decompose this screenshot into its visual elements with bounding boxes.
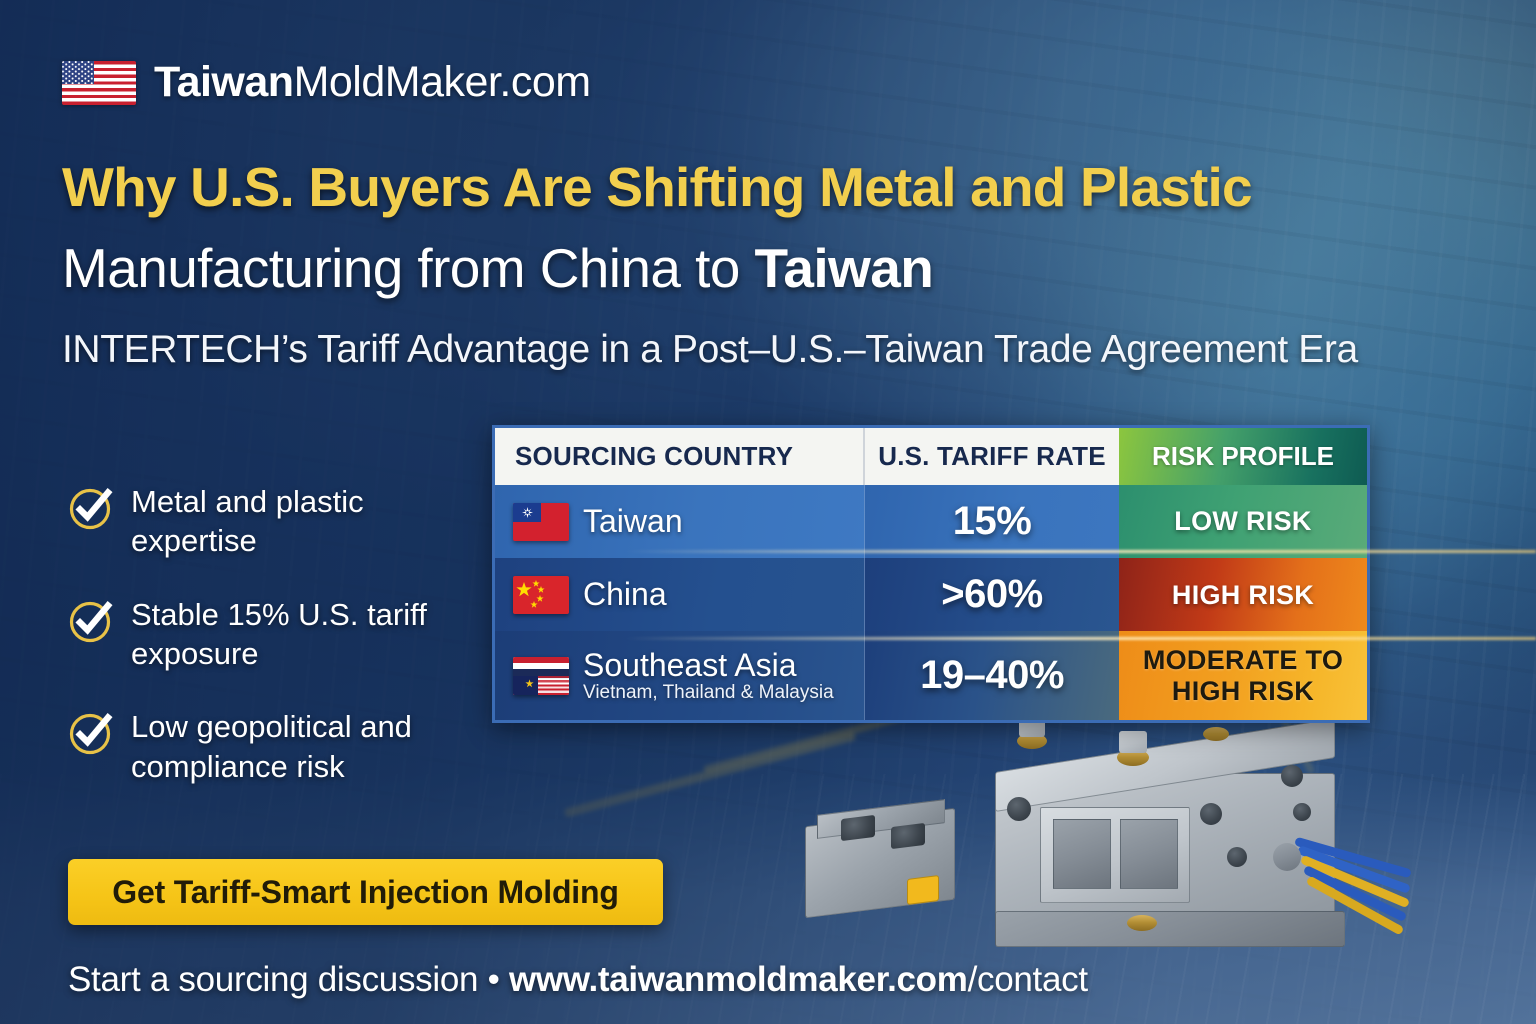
footer-url-domain[interactable]: www.taiwanmoldmaker.com bbox=[509, 960, 968, 999]
status-badge-line-1: MODERATE TO bbox=[1143, 645, 1343, 675]
china-flag-icon bbox=[513, 576, 569, 614]
subtitle: INTERTECH’s Tariff Advantage in a Post–U… bbox=[62, 328, 1482, 372]
column-header-risk-profile: RISK PROFILE bbox=[1119, 428, 1367, 485]
country-subtitle: Vietnam, Thailand & Malaysia bbox=[583, 682, 834, 704]
headline-line-2-bold: Taiwan bbox=[754, 237, 933, 299]
taiwan-flag-sun bbox=[522, 507, 533, 518]
country-name-group: Southeast Asia Vietnam, Thailand & Malay… bbox=[583, 647, 834, 704]
china-flag-stars bbox=[513, 576, 569, 614]
list-item: Stable 15% U.S. tariff exposure bbox=[68, 595, 488, 674]
cell-risk-profile: MODERATE TOHIGH RISK bbox=[1119, 631, 1367, 720]
cell-tariff-rate: 15% bbox=[865, 485, 1119, 558]
country-name-group: Taiwan bbox=[583, 503, 683, 540]
column-header-tariff-rate: U.S. TARIFF RATE bbox=[865, 428, 1119, 485]
status-badge: MODERATE TOHIGH RISK bbox=[1143, 645, 1343, 705]
country-name: China bbox=[583, 576, 667, 613]
list-item: Low geopolitical and compliance risk bbox=[68, 707, 488, 786]
country-name-group: China bbox=[583, 576, 667, 613]
southeast-asia-flags-icon bbox=[513, 657, 569, 695]
footer-url-path[interactable]: /contact bbox=[968, 960, 1088, 999]
us-flag-canton bbox=[62, 61, 94, 85]
cell-tariff-rate: 19–40% bbox=[865, 631, 1119, 720]
list-item-label: Metal and plastic expertise bbox=[131, 482, 488, 561]
headline-line-2-prefix: Manufacturing from China to bbox=[62, 237, 754, 299]
table-row: Southeast Asia Vietnam, Thailand & Malay… bbox=[495, 631, 1367, 720]
malaysia-flag-icon bbox=[513, 676, 569, 694]
site-logo-text-rest: MoldMaker.com bbox=[294, 58, 591, 106]
check-circle-icon bbox=[68, 709, 115, 756]
cell-country: China bbox=[495, 558, 865, 631]
country-name: Southeast Asia bbox=[583, 647, 834, 684]
list-item-label: Low geopolitical and compliance risk bbox=[131, 707, 488, 786]
check-circle-icon bbox=[68, 597, 115, 644]
taiwan-flag-icon bbox=[513, 503, 569, 541]
column-header-sourcing-country: SOURCING COUNTRY bbox=[495, 428, 865, 485]
site-logo[interactable]: TaiwanMoldMaker.com bbox=[62, 58, 591, 107]
footer-prefix: Start a sourcing discussion • bbox=[68, 960, 509, 999]
tariff-rate-value: >60% bbox=[941, 572, 1042, 617]
us-flag-icon bbox=[62, 61, 136, 105]
headline-line-2: Manufacturing from China to Taiwan bbox=[62, 236, 1362, 300]
cta-button[interactable]: Get Tariff-Smart Injection Molding bbox=[68, 859, 663, 925]
cell-risk-profile: HIGH RISK bbox=[1119, 558, 1367, 631]
tariff-rate-value: 15% bbox=[953, 499, 1032, 544]
status-badge: HIGH RISK bbox=[1172, 580, 1314, 610]
site-logo-text-bold: Taiwan bbox=[154, 58, 294, 106]
headline-line-1: Why U.S. Buyers Are Shifting Metal and P… bbox=[62, 155, 1362, 219]
table-row: China >60% HIGH RISK bbox=[495, 558, 1367, 631]
table-row: Taiwan 15% LOW RISK bbox=[495, 485, 1367, 558]
cell-risk-profile: LOW RISK bbox=[1119, 485, 1367, 558]
table-header-row: SOURCING COUNTRY U.S. TARIFF RATE RISK P… bbox=[495, 428, 1367, 485]
status-badge: LOW RISK bbox=[1174, 506, 1311, 536]
tariff-rate-value: 19–40% bbox=[920, 653, 1064, 698]
tariff-comparison-table: SOURCING COUNTRY U.S. TARIFF RATE RISK P… bbox=[492, 425, 1370, 723]
site-logo-text: TaiwanMoldMaker.com bbox=[154, 58, 591, 107]
list-item: Metal and plastic expertise bbox=[68, 482, 488, 561]
status-badge-line-2: HIGH RISK bbox=[1172, 676, 1314, 706]
malaysia-flag-star bbox=[525, 679, 534, 688]
check-circle-icon bbox=[68, 484, 115, 531]
cell-country: Taiwan bbox=[495, 485, 865, 558]
cell-country: Southeast Asia Vietnam, Thailand & Malay… bbox=[495, 631, 865, 720]
list-item-label: Stable 15% U.S. tariff exposure bbox=[131, 595, 488, 674]
benefits-list: Metal and plastic expertise Stable 15% U… bbox=[68, 482, 488, 820]
footer-contact-line: Start a sourcing discussion • www.taiwan… bbox=[68, 960, 1088, 1000]
country-name: Taiwan bbox=[583, 503, 683, 540]
cell-tariff-rate: >60% bbox=[865, 558, 1119, 631]
